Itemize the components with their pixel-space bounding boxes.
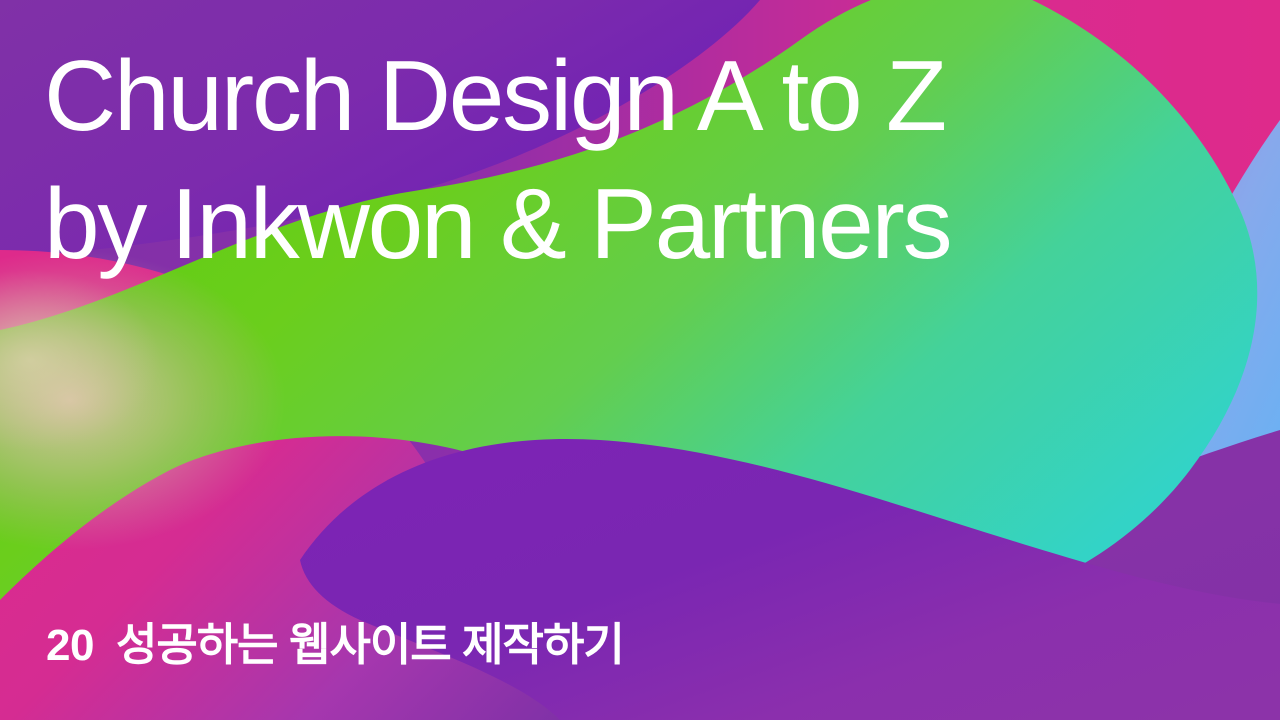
lesson-number: 20 [46, 624, 94, 668]
title-line-1: Church Design A to Z [44, 32, 1244, 160]
slide-content: Church Design A to Z by Inkwon & Partner… [0, 0, 1280, 720]
lesson-title: 성공하는 웹사이트 제작하기 [116, 622, 624, 667]
presentation-slide: Church Design A to Z by Inkwon & Partner… [0, 0, 1280, 720]
slide-title: Church Design A to Z by Inkwon & Partner… [44, 32, 1244, 288]
slide-footer: 20 성공하는 웹사이트 제작하기 [46, 622, 624, 668]
title-line-2: by Inkwon & Partners [44, 160, 1244, 288]
